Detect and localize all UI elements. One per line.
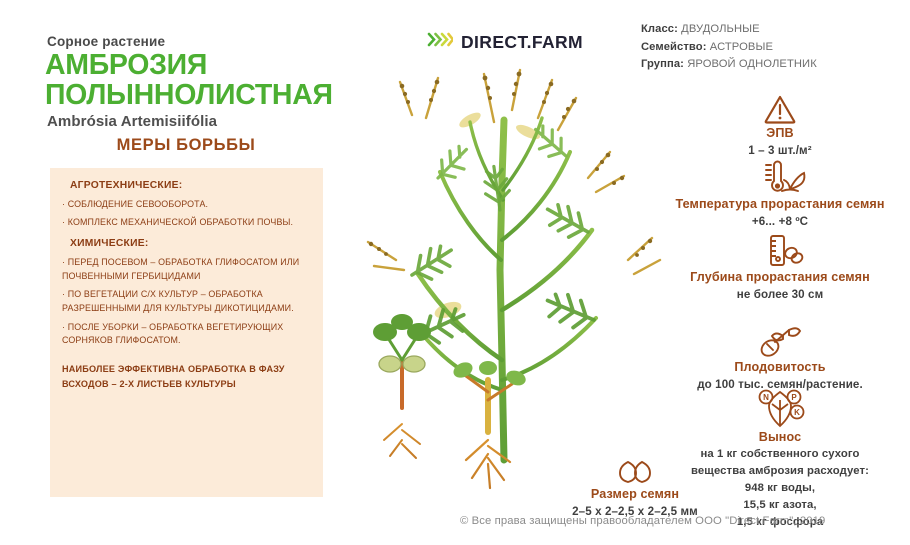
classification-label: Семейство: bbox=[641, 41, 707, 53]
classification-label: Класс: bbox=[641, 23, 678, 35]
classification-value: ЯРОВОЙ ОДНОЛЕТНИК bbox=[687, 58, 817, 70]
chemical-item: · ПЕРЕД ПОСЕВОМ – ОБРАБОТКА ГЛИФОСАТОМ И… bbox=[62, 256, 317, 283]
chemical-heading: ХИМИЧЕСКИЕ: bbox=[70, 238, 317, 249]
svg-text:P: P bbox=[791, 393, 797, 402]
fact-title: Вынос bbox=[650, 430, 910, 445]
brand-logo[interactable]: DIRECT.FARM bbox=[427, 31, 583, 53]
agrotech-item: · КОМПЛЕКС МЕХАНИЧЕСКОЙ ОБРАБОТКИ ПОЧВЫ. bbox=[62, 216, 317, 230]
ambrosia-plant-illustration bbox=[352, 60, 672, 505]
fact-seed-size: Размер семян 2–5 x 2–2,5 x 2–2,5 мм bbox=[540, 445, 730, 520]
thermometer-sprout-icon bbox=[650, 155, 910, 195]
svg-text:N: N bbox=[763, 393, 769, 402]
warning-triangle-icon bbox=[700, 84, 860, 124]
fact-temperature: Температура прорастания семян +6... +8 º… bbox=[650, 155, 910, 230]
classification-row: Семейство: АСТРОВЫЕ bbox=[641, 39, 817, 57]
seeds-icon bbox=[540, 445, 730, 485]
agrotech-heading: АГРОТЕХНИЧЕСКИЕ: bbox=[70, 180, 317, 191]
npk-leaf-icon: NPK bbox=[650, 388, 910, 428]
fact-title: Температура прорастания семян bbox=[650, 197, 910, 212]
page-title: АМБРОЗИЯ ПОЛЫННОЛИСТНАЯ bbox=[45, 50, 375, 110]
measures-conclusion: НАИБОЛЕЕ ЭФФЕКТИВНА ОБРАБОТКА В ФАЗУ ВСХ… bbox=[62, 362, 317, 392]
fact-title: Плодовитость bbox=[660, 360, 900, 375]
seed-sprout-icon bbox=[660, 318, 900, 358]
fact-title: Глубина прорастания семян bbox=[665, 270, 895, 285]
latin-name: Ambrósia Artemisiifólia bbox=[47, 113, 217, 130]
infographic-canvas: Сорное растение АМБРОЗИЯ ПОЛЫННОЛИСТНАЯ … bbox=[0, 0, 910, 545]
fact-depth: Глубина прорастания семян не более 30 см bbox=[665, 228, 895, 303]
logo-text: DIRECT.FARM bbox=[461, 32, 583, 53]
species-line-1: АМБРОЗИЯ bbox=[45, 49, 207, 81]
classification-row: Класс: ДВУДОЛЬНЫЕ bbox=[641, 21, 817, 39]
fact-fecundity: Плодовитость до 100 тыс. семян/растение. bbox=[660, 318, 900, 393]
kicker-label: Сорное растение bbox=[47, 34, 165, 49]
copyright-footer: © Все права защищены правообладателем ОО… bbox=[460, 515, 825, 527]
chevrons-icon bbox=[427, 31, 453, 53]
chemical-item: · ПОСЛЕ УБОРКИ – ОБРАБОТКА ВЕГЕТИРУЮЩИХ … bbox=[62, 321, 317, 348]
chemical-item: · ПО ВЕГЕТАЦИИ С/Х КУЛЬТУР – ОБРАБОТКА Р… bbox=[62, 288, 317, 315]
classification-value: АСТРОВЫЕ bbox=[710, 41, 773, 53]
classification-value: ДВУДОЛЬНЫЕ bbox=[681, 23, 760, 35]
species-line-2: ПОЛЫННОЛИСТНАЯ bbox=[45, 80, 375, 110]
fact-epv: ЭПВ 1 – 3 шт./м² bbox=[700, 84, 860, 159]
measures-title: МЕРЫ БОРЬБЫ bbox=[50, 136, 322, 155]
fact-value: не более 30 см bbox=[665, 287, 895, 303]
svg-text:K: K bbox=[794, 408, 800, 417]
agrotech-item: · СОБЛЮДЕНИЕ СЕВООБОРОТА. bbox=[62, 198, 317, 212]
measures-content: АГРОТЕХНИЧЕСКИЕ: · СОБЛЮДЕНИЕ СЕВООБОРОТ… bbox=[62, 176, 317, 392]
fact-title: Размер семян bbox=[540, 487, 730, 502]
ruler-seed-icon bbox=[665, 228, 895, 268]
fact-title: ЭПВ bbox=[700, 126, 860, 141]
